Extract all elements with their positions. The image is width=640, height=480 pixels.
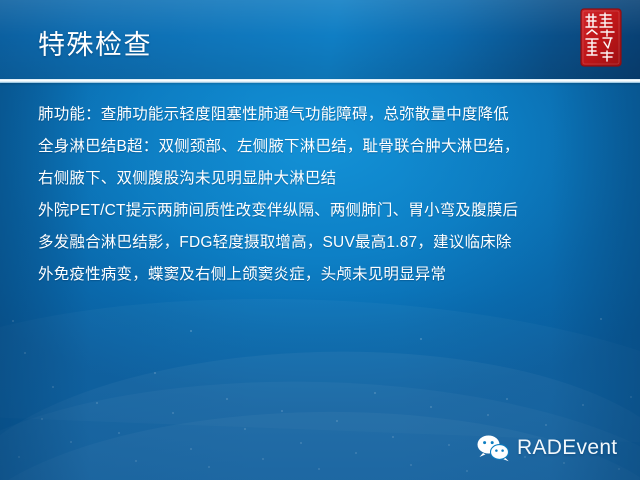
body-line: 外院PET/CT提示两肺间质性改变伴纵隔、两侧肺门、胃小弯及腹膜后: [38, 195, 618, 227]
body-line: 多发融合淋巴结影，FDG轻度摄取增高，SUV最高1.87，建议临床除: [38, 227, 618, 259]
body-line: 肺功能：查肺功能示轻度阻塞性肺通气功能障碍，总弥散量中度降低: [38, 99, 618, 131]
body-line: 右侧腋下、双侧腹股沟未见明显肿大淋巴结: [38, 163, 618, 195]
watermark-label: RADEvent: [517, 436, 617, 460]
watermark: RADEvent: [476, 434, 617, 462]
slide-canvas: 特殊检查: [0, 0, 640, 480]
slide-body: 肺功能：查肺功能示轻度阻塞性肺通气功能障碍，总弥散量中度降低 全身淋巴结B超：双…: [38, 99, 618, 291]
page-title: 特殊检查: [38, 28, 152, 62]
body-line: 外免疫性病变，蝶窦及右侧上颌窦炎症，头颅未见明显异常: [38, 259, 618, 291]
body-line: 全身淋巴结B超：双侧颈部、左侧腋下淋巴结，耻骨联合肿大淋巴结，: [38, 131, 618, 163]
header-divider: [0, 79, 640, 83]
qunyinghui-seal-icon: [578, 8, 624, 68]
wechat-icon: [476, 434, 510, 462]
